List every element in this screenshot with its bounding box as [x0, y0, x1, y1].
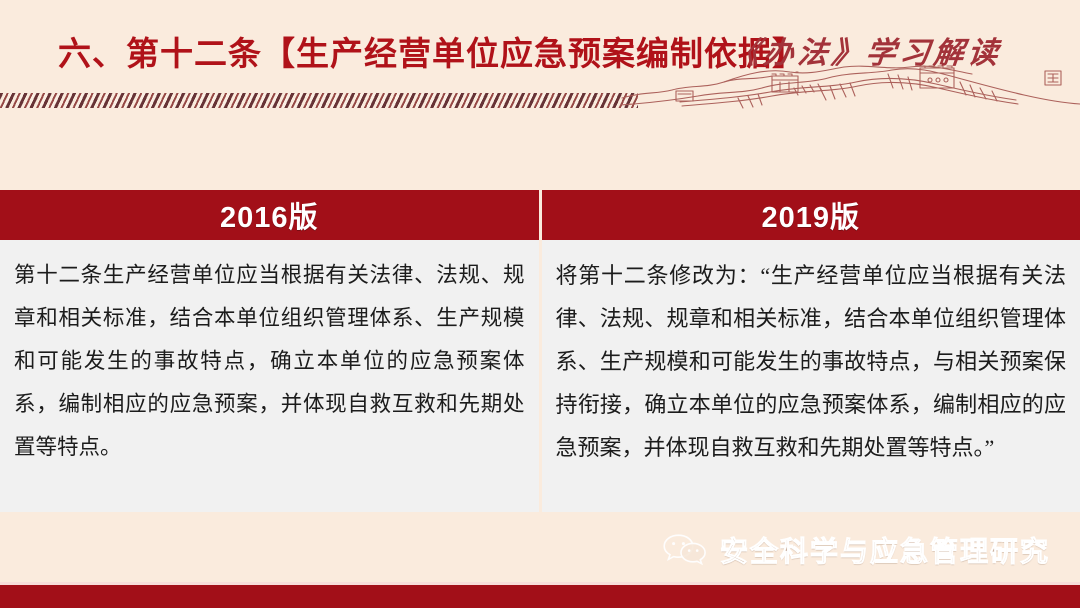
version-comparison-table: 2016版 第十二条生产经营单位应当根据有关法律、法规、规章和相关标准，结合本单… — [0, 190, 1080, 512]
column-body-2019: 将第十二条修改为：“生产经营单位应当根据有关法律、法规、规章和相关标准，结合本单… — [542, 240, 1080, 512]
table-column-2019: 2019版 将第十二条修改为：“生产经营单位应当根据有关法律、法规、规章和相关标… — [542, 190, 1080, 512]
footer-watermark: 安全科学与应急管理研究 — [662, 530, 1050, 570]
page-title: 六、第十二条【生产经营单位应急预案编制依据】 — [58, 32, 806, 76]
column-header-2016: 2016版 — [0, 190, 539, 240]
wechat-icon — [662, 532, 708, 568]
diagonal-stripe-divider — [0, 93, 638, 108]
header-band: 六、第十二条【生产经营单位应急预案编制依据】 《办法》学习解读 — [0, 0, 1080, 178]
slide-canvas: 六、第十二条【生产经营单位应急预案编制依据】 《办法》学习解读 — [0, 0, 1080, 608]
brand-calligraphy-label: 《办法》学习解读 — [728, 28, 1005, 72]
table-column-2016: 2016版 第十二条生产经营单位应当根据有关法律、法规、规章和相关标准，结合本单… — [0, 190, 539, 512]
watermark-label: 安全科学与应急管理研究 — [720, 530, 1050, 570]
column-body-2016: 第十二条生产经营单位应当根据有关法律、法规、规章和相关标准，结合本单位组织管理体… — [0, 240, 539, 512]
bottom-accent-bar — [0, 585, 1080, 608]
column-header-2019: 2019版 — [542, 190, 1080, 240]
